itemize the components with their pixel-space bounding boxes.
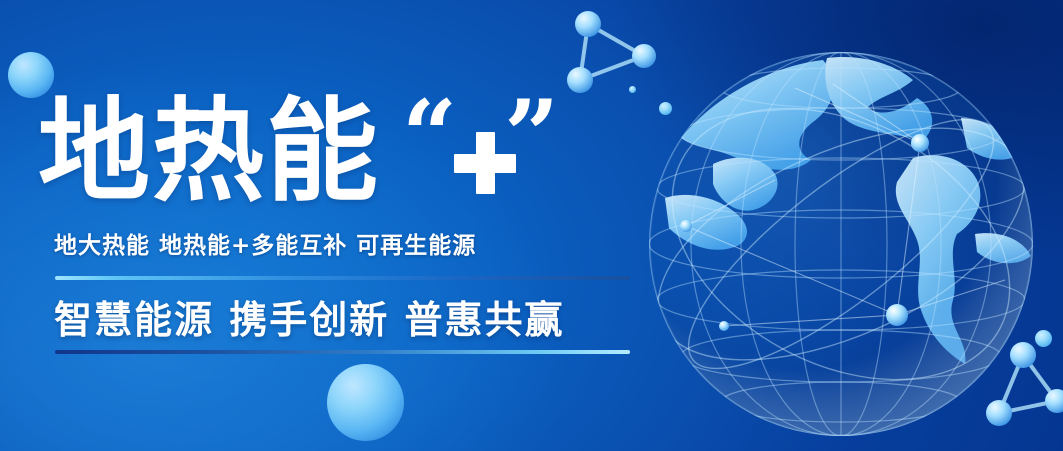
tagline: 智慧能源 携手创新 普惠共赢 (54, 297, 564, 343)
plus-emblem: “ ” (398, 96, 573, 214)
page-title: 地热能 (38, 96, 380, 208)
title-row: 地热能 “ ” (38, 96, 573, 214)
molecule-bottom-right (975, 335, 1063, 440)
divider-bottom (55, 350, 630, 354)
quote-open-icon: “ (402, 88, 457, 184)
quote-close-icon: ” (504, 88, 559, 184)
subtitle: 地大热能 地热能+多能互补 可再生能源 (54, 232, 476, 260)
geothermal-banner: 地热能 “ ” 地大热能 地热能+多能互补 可再生能源 智慧能源 携手创新 普惠… (0, 0, 1063, 451)
divider-top (55, 276, 630, 280)
headline-block: 地热能 “ ” 地大热能 地热能+多能互补 可再生能源 智慧能源 携手创新 普惠… (0, 0, 660, 451)
